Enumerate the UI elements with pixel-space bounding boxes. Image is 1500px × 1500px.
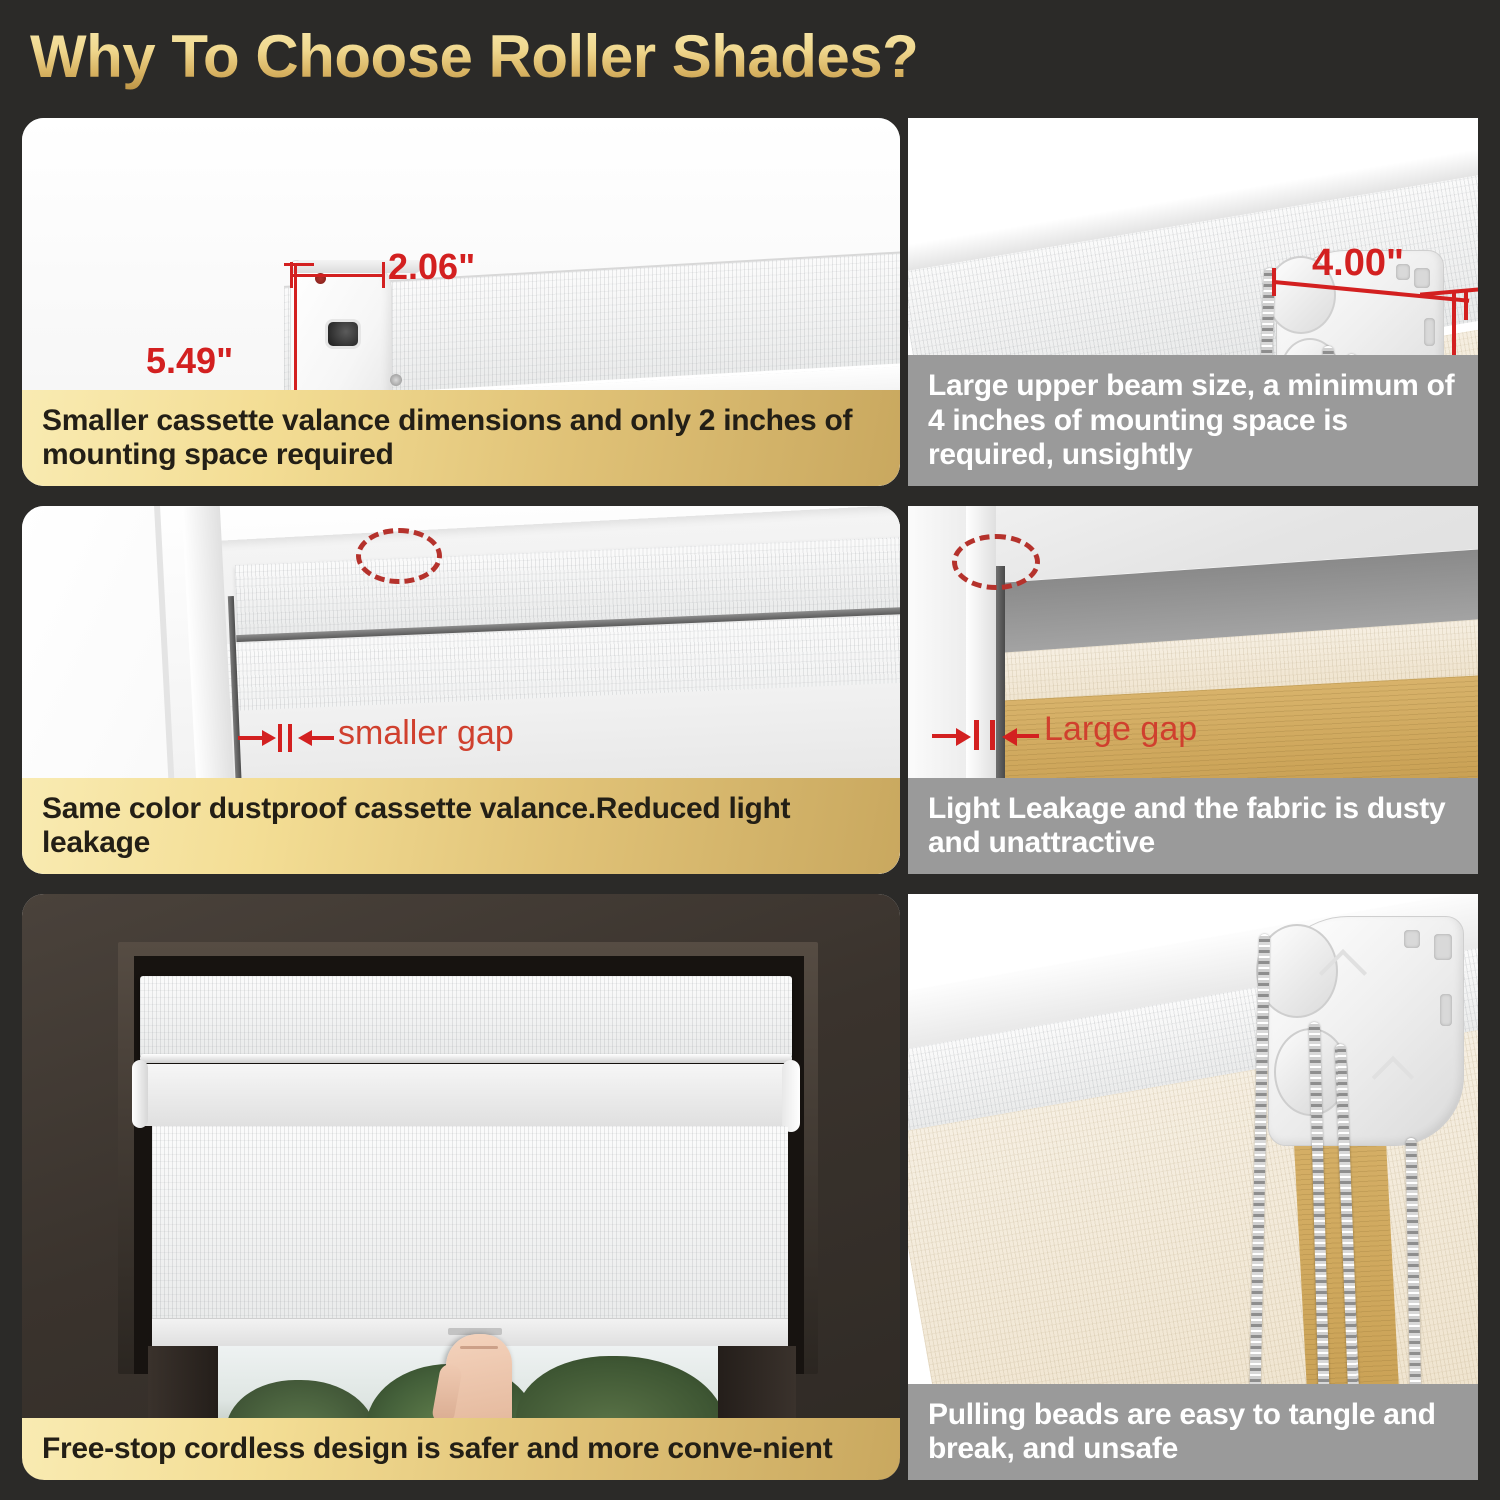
panel-caption: Smaller cassette valance dimensions and … xyxy=(22,390,900,486)
cassette-lower-band xyxy=(144,1064,788,1126)
cordless-window-photo xyxy=(22,894,900,1480)
panel-large-gap: Large gap Light Leakage and the fabric i… xyxy=(908,506,1478,874)
beam-width-tick-right xyxy=(1464,290,1468,320)
panel-caption: Same color dustproof cassette valance.Re… xyxy=(22,778,900,874)
bracket-slot-b xyxy=(1404,930,1420,948)
gap-arrow-right-shaft xyxy=(312,736,334,740)
height-dimension-label: 5.49" xyxy=(146,340,233,382)
cassette-rail-lip xyxy=(140,1054,792,1063)
beam-width-tick-left xyxy=(1272,268,1276,296)
valance-highlight-ellipse xyxy=(356,528,442,584)
panel-pulling-beads: Pulling beads are easy to tangle and bre… xyxy=(908,894,1478,1480)
width-dim-tick-right xyxy=(382,262,385,288)
hand-finger-crease xyxy=(460,1346,498,1349)
gap-arrow-right-head xyxy=(1002,728,1017,746)
gap-tick-a xyxy=(278,724,282,752)
panel-cassette-dimensions: 2.06" 5.49" Smaller cassette valance dim… xyxy=(22,118,900,486)
page-title: Why To Choose Roller Shades? xyxy=(30,22,918,91)
shade-fabric-panel xyxy=(152,1126,788,1326)
cassette-end-cap-right xyxy=(782,1060,800,1132)
cassette-end-cap-left xyxy=(132,1060,148,1128)
end-cap-screw-lower xyxy=(390,374,402,386)
panel-smaller-gap: smaller gap Same color dustproof cassett… xyxy=(22,506,900,874)
smaller-gap-label: smaller gap xyxy=(338,714,514,753)
bracket-slot-a xyxy=(1414,268,1430,288)
panel-caption: Pulling beads are easy to tangle and bre… xyxy=(908,1384,1478,1480)
gap-tick-b xyxy=(288,724,292,752)
gap-highlight-ellipse xyxy=(952,534,1040,590)
gap-arrow-left-head xyxy=(262,730,276,746)
panel-caption: Large upper beam size, a minimum of 4 in… xyxy=(908,355,1478,486)
panel-caption: Free-stop cordless design is safer and m… xyxy=(22,1418,900,1480)
bracket-slot-c xyxy=(1440,994,1452,1026)
end-cap-roller-socket xyxy=(325,319,361,349)
width-dimension-label: 2.06" xyxy=(388,246,475,288)
gap-tick-a xyxy=(974,720,979,750)
cassette-head-rail xyxy=(140,976,792,1058)
gap-tick-b xyxy=(990,720,995,750)
bracket-slot-c xyxy=(1424,318,1435,346)
beam-width-dimension-label: 4.00" xyxy=(1312,242,1404,285)
infographic-root: Why To Choose Roller Shades? 2.06" 5.49 xyxy=(0,0,1500,1500)
panel-cordless-design: Free-stop cordless design is safer and m… xyxy=(22,894,900,1480)
panel-caption: Light Leakage and the fabric is dusty an… xyxy=(908,778,1478,874)
width-dim-line xyxy=(290,274,385,277)
bracket-slot-a xyxy=(1434,934,1452,960)
height-dim-tick-top xyxy=(284,263,314,266)
gap-shadow-line xyxy=(996,566,1005,798)
gap-arrow-left-head xyxy=(956,728,971,746)
gap-arrow-right-head xyxy=(298,730,312,746)
large-gap-label: Large gap xyxy=(1044,710,1197,749)
gap-arrow-right-shaft xyxy=(1017,734,1039,738)
panel-large-upper-beam: 4.00" 4.00" Large upper beam size, a min… xyxy=(908,118,1478,486)
